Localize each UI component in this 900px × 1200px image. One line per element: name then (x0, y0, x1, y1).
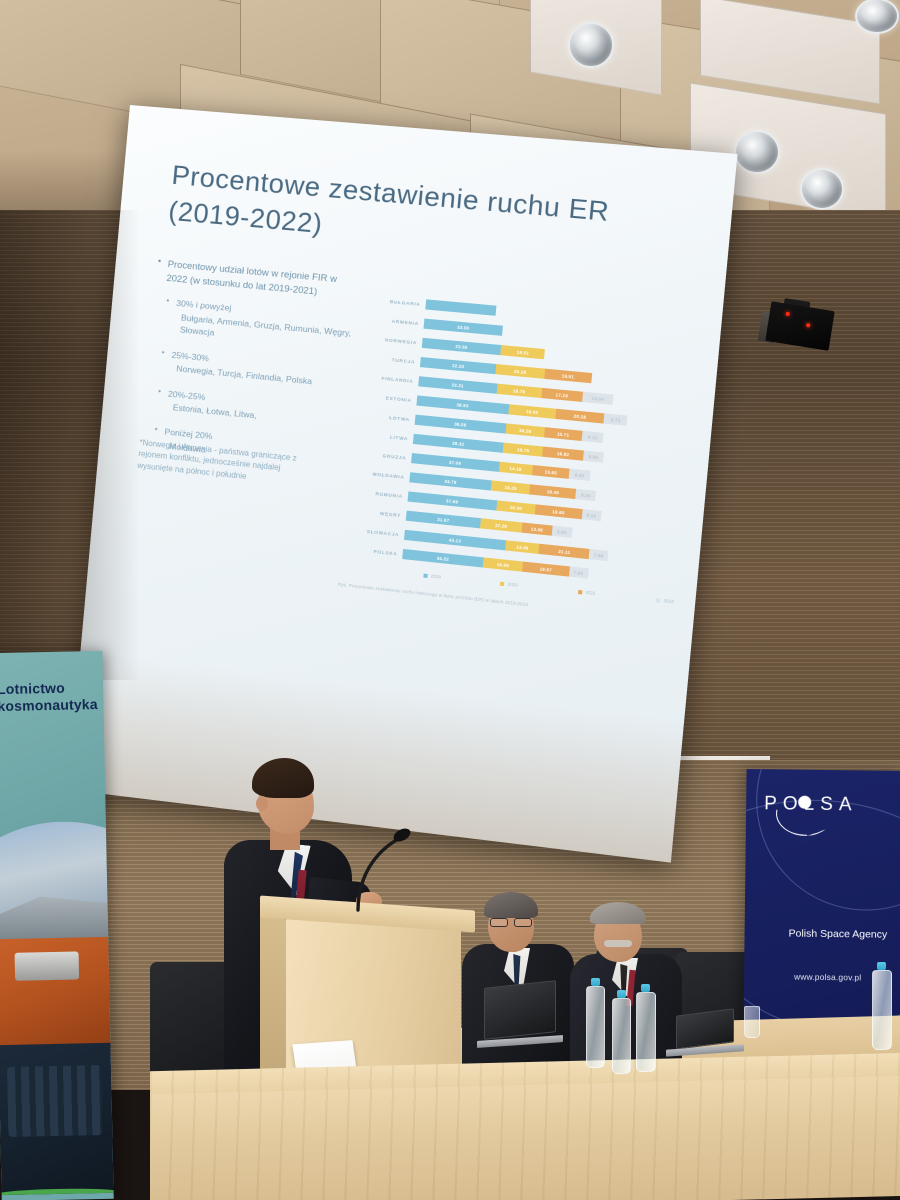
legend-label: 2021 (585, 590, 596, 596)
chart-legend-item: 2021 (578, 589, 596, 596)
chart-rows: BUŁGARIAARMENIA33.50NORWEGIA33.5018.51TU… (343, 290, 701, 592)
chart-legend-item: 2019 (423, 573, 441, 580)
chart-segment-2020: 18.76 (497, 384, 542, 398)
legend-swatch-icon (656, 598, 661, 603)
chart-segment-2021: 19.67 (522, 562, 570, 577)
mars-rover-icon (15, 951, 80, 980)
chart-row-label: ARMENIA (364, 316, 424, 327)
chart-segment-2022: 8.50 (583, 451, 604, 463)
chart-segment-2019: 31.67 (406, 511, 481, 529)
legend-label: 2019 (431, 573, 442, 579)
polsa-logo-text: POLSA (764, 793, 892, 817)
chart-row-label: ŁOTWA (355, 411, 415, 422)
chart-segment-2020: 18.51 (501, 345, 546, 359)
laptop-left (484, 984, 563, 1045)
chart-segment-2019: 32.20 (420, 357, 497, 374)
chart-segment-2019: 34.32 (402, 549, 484, 568)
legend-swatch-icon (578, 589, 583, 594)
chart-segment-2020: 19.93 (508, 404, 556, 419)
chart-legend-item: 2022 (656, 597, 674, 604)
banner-left-title-line2: kosmonautyka (0, 695, 102, 714)
ceiling-downlight-icon (855, 0, 899, 34)
eyeglasses-icon (490, 918, 534, 927)
chart-segment-2021: 19.40 (530, 484, 577, 499)
chart-segment-2019: 33.50 (423, 319, 503, 336)
water-bottle (586, 978, 605, 1068)
ceiling-downlight-icon (734, 130, 780, 174)
chart-segment-2020: 16.75 (503, 443, 544, 457)
camera-led-icon (785, 312, 790, 317)
chart-segment-2022: 8.00 (552, 526, 572, 538)
laptop-right (676, 1012, 744, 1054)
chart-segment-2020: 20.28 (496, 364, 545, 379)
chart-segment-2022: 8.40 (569, 469, 590, 481)
chart-segment-2019: 33.50 (422, 338, 502, 355)
camera-led-icon (806, 323, 811, 328)
chart-segment-2020: 16.58 (483, 557, 523, 571)
presidium-table-front (150, 1076, 900, 1200)
legend-swatch-icon (500, 581, 505, 586)
stacked-bar-chart: BUŁGARIAARMENIA33.50NORWEGIA33.5018.51TU… (339, 290, 700, 628)
ceiling-downlight-icon (568, 22, 614, 68)
chart-segment-2020: 17.29 (480, 518, 522, 532)
chart-row-label: WĘGRY (347, 507, 407, 518)
legend-swatch-icon (423, 573, 427, 577)
chart-segment-2022: 8.10 (581, 509, 601, 521)
projection-screen: Procentowe zestawienie ruchu ER (2019-20… (68, 105, 738, 863)
gooseneck-microphone (348, 818, 468, 913)
chart-segment-2021: 13.06 (521, 522, 553, 535)
chart-segment-2021: 15.65 (532, 465, 570, 479)
legend-label: 2020 (507, 581, 518, 587)
chart-segment-2021: 21.11 (539, 544, 590, 559)
chart-segment-2019: 33.31 (418, 376, 497, 394)
chart-segment-2019 (425, 299, 497, 316)
chart-row-label: RUMUNIA (348, 488, 408, 499)
chart-segment-2021: 17.19 (541, 388, 583, 402)
chart-segment-2022: 13.04 (582, 392, 614, 405)
water-bottle (872, 962, 892, 1050)
ceiling-camera (768, 300, 840, 356)
legend-label: 2022 (663, 598, 674, 604)
chart-row-label: NORWEGIA (362, 335, 422, 346)
chart-segment-2022: 9.71 (604, 413, 628, 425)
chart-row-label: BUŁGARIA (366, 296, 426, 306)
polsa-subtitle: Polish Space Agency (788, 928, 900, 943)
chart-segment-2020: 14.06 (505, 540, 539, 554)
chart-row-label: TURCJA (361, 354, 421, 365)
water-bottle (636, 984, 656, 1072)
drinking-glass (744, 1006, 760, 1038)
chart-row-label: MOŁDAWIA (350, 469, 410, 480)
chart-row-label: ESTONIA (357, 392, 417, 403)
chart-segment-2022: 8.20 (576, 489, 597, 501)
chart-segment-2021: 15.71 (544, 427, 582, 441)
chart-segment-2020: 16.26 (505, 423, 544, 437)
chart-segment-2022: 7.90 (589, 549, 609, 561)
chart-segment-2021: 16.82 (543, 447, 584, 461)
chart-row-label: FINLANDIA (359, 373, 419, 384)
chart-segment-2020: 16.30 (496, 500, 536, 514)
chart-legend-item: 2020 (500, 581, 518, 588)
chart-segment-2022: 9.12 (581, 431, 604, 443)
banner-left-title: Lotnictwo kosmonautyka (0, 679, 102, 714)
ceiling-downlight-icon (800, 168, 844, 210)
chart-segment-2021: 19.60 (535, 504, 583, 519)
chart-segment-2020: 16.25 (491, 480, 530, 494)
water-bottle (612, 990, 631, 1074)
chart-segment-2020: 14.18 (498, 462, 533, 476)
chart-row-label: LITWA (354, 431, 414, 442)
polsa-logo-dot-icon (798, 796, 811, 809)
auditorium-scene: Procentowe zestawienie ruchu ER (2019-20… (0, 0, 900, 1200)
banner-lotnictwo-kosmonautyka: Lotnictwo kosmonautyka (0, 651, 114, 1200)
chart-segment-2022: 7.60 (569, 566, 589, 578)
chart-row-label: SŁOWACJA (345, 526, 405, 537)
chart-row-label: GRUZJA (352, 450, 412, 461)
chart-row-label: POLSKA (343, 545, 403, 556)
chart-segment-2021: 19.91 (544, 369, 592, 384)
chart-segment-2021: 20.28 (555, 409, 604, 424)
